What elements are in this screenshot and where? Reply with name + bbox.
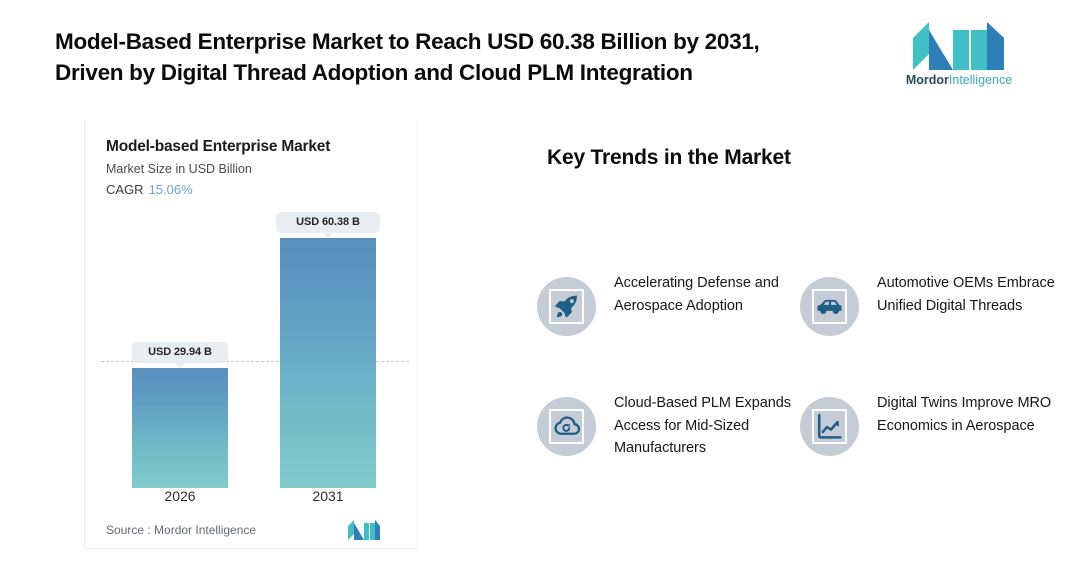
trend-item-label-3: Digital Twins Improve MRO Economics in A… — [877, 392, 1062, 437]
x-tick-2026: 2026 — [132, 488, 228, 504]
trend-item-0: Accelerating Defense and Aerospace Adopt… — [537, 272, 802, 382]
page-title-line-1: Model-Based Enterprise Market to Reach U… — [55, 29, 760, 54]
trend-item-label-0: Accelerating Defense and Aerospace Adopt… — [614, 272, 799, 317]
page-header: Model-Based Enterprise Market to Reach U… — [0, 0, 1066, 112]
page-title: Model-Based Enterprise Market to Reach U… — [55, 26, 875, 88]
brand-logo: MordorIntelligence — [900, 22, 1018, 94]
cloud-sync-icon — [537, 397, 596, 456]
brand-word-bold: Mordor — [906, 73, 949, 87]
brand-word-light: Intelligence — [949, 73, 1012, 87]
bar-value-label-2031: USD 60.38 B — [276, 212, 380, 233]
trend-item-2: Cloud-Based PLM Expands Access for Mid-S… — [537, 392, 802, 502]
mordor-intelligence-logo-icon — [911, 22, 1007, 70]
bar-value-label-2026: USD 29.94 B — [132, 342, 228, 363]
chart-plot-area: USD 29.94 B USD 60.38 B — [85, 206, 417, 488]
page-title-line-2: Driven by Digital Thread Adoption and Cl… — [55, 57, 875, 88]
trend-item-label-2: Cloud-Based PLM Expands Access for Mid-S… — [614, 392, 799, 460]
chart-source-text: Source : Mordor Intelligence — [106, 523, 256, 537]
chart-subtitle: Market Size in USD Billion — [106, 162, 252, 176]
trend-item-1: Automotive OEMs Embrace Unified Digital … — [800, 272, 1065, 382]
chart-x-axis: 2026 2031 — [85, 488, 417, 514]
bar-2031 — [280, 238, 376, 488]
chart-cagr: CAGR15.06% — [106, 182, 193, 197]
growth-chart-icon — [800, 397, 859, 456]
brand-wordmark: MordorIntelligence — [900, 73, 1018, 87]
trend-item-3: Digital Twins Improve MRO Economics in A… — [800, 392, 1065, 502]
x-tick-2031: 2031 — [280, 488, 376, 504]
key-trends-title: Key Trends in the Market — [547, 146, 791, 170]
trend-item-label-1: Automotive OEMs Embrace Unified Digital … — [877, 272, 1062, 317]
mordor-mark-icon — [348, 520, 380, 540]
bar-2026 — [132, 368, 228, 488]
car-icon — [800, 277, 859, 336]
chart-title: Model-based Enterprise Market — [106, 138, 330, 156]
cagr-value: 15.06% — [149, 182, 193, 197]
cagr-label: CAGR — [106, 182, 144, 197]
market-size-chart-card: Model-based Enterprise Market Market Siz… — [84, 120, 418, 548]
chart-source-row: Source : Mordor Intelligence — [85, 520, 417, 549]
rocket-icon — [537, 277, 596, 336]
